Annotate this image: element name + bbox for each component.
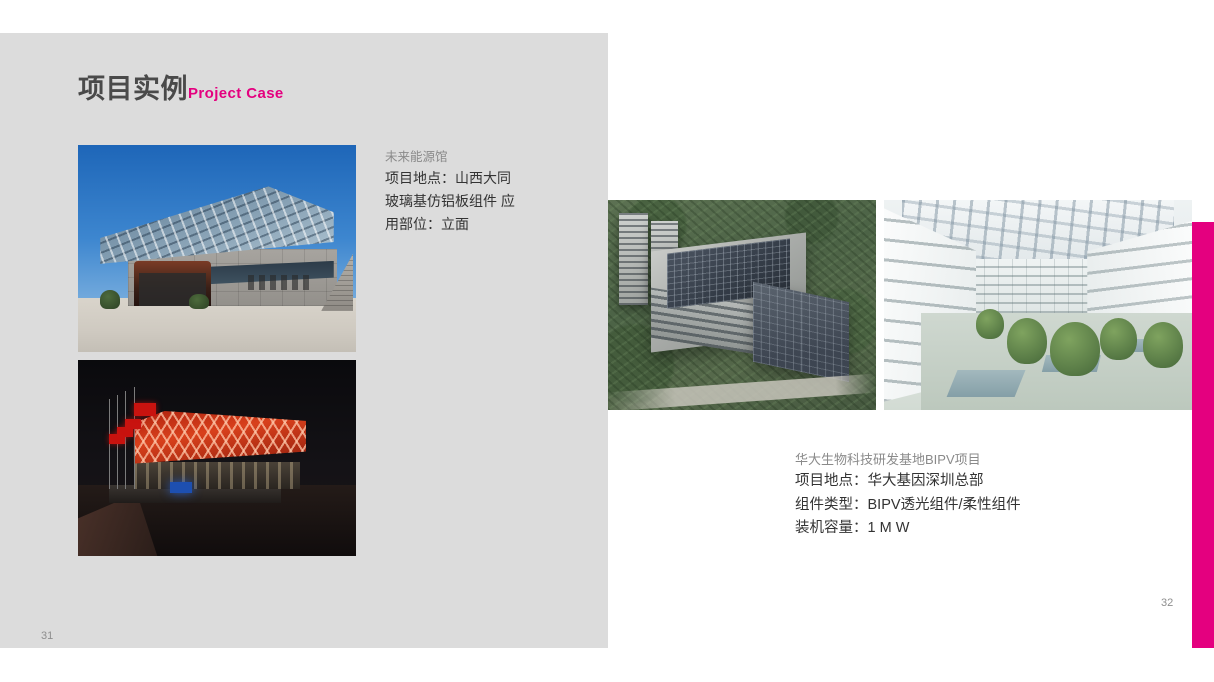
info-line-location: 项目地点：华大基因深圳总部	[795, 470, 1021, 493]
page-number-left: 31	[41, 630, 53, 642]
tree-icon	[1100, 318, 1137, 360]
info-line-capacity: 装机容量：1 M W	[795, 517, 1021, 540]
info-heading-right: 华大生物科技研发基地BIPV项目	[795, 449, 1021, 470]
flagpole	[125, 391, 126, 489]
info-line-location: 项目地点：山西大同	[385, 167, 515, 190]
flag-icon	[134, 403, 156, 416]
page-title-en: Project Case	[188, 85, 284, 102]
photo-bgi-atrium	[884, 200, 1192, 410]
photo-bgi-aerial	[608, 200, 876, 410]
residential-tower	[619, 213, 648, 305]
info-block-right: 华大生物科技研发基地BIPV项目 项目地点：华大基因深圳总部 组件类型：BIPV…	[795, 449, 1021, 541]
night-led-screen	[170, 482, 192, 494]
page-number-right: 32	[1161, 597, 1173, 609]
building-signage	[248, 275, 312, 289]
info-line-module-type: 组件类型：BIPV透光组件/柔性组件	[795, 494, 1021, 517]
photo-museum-daytime	[78, 145, 356, 352]
shrub-icon	[189, 294, 208, 308]
info-block-left: 未来能源馆 项目地点：山西大同 玻璃基仿铝板组件 应 用部位：立面	[385, 147, 515, 235]
tree-icon	[1007, 318, 1047, 364]
flag-icon	[125, 419, 141, 429]
photo-museum-night	[78, 360, 356, 556]
water-feature	[946, 370, 1025, 397]
tree-icon	[1050, 322, 1099, 377]
tree-icon	[976, 309, 1004, 338]
info-heading-left: 未来能源馆	[385, 147, 515, 167]
shrub-icon	[100, 290, 119, 309]
info-line-application: 用部位：立面	[385, 213, 515, 236]
night-building-podium	[134, 462, 301, 489]
page-title-cn: 项目实例	[78, 74, 188, 104]
accent-bar	[1192, 222, 1214, 648]
info-line-module-type: 玻璃基仿铝板组件 应	[385, 190, 515, 213]
page-title: 项目实例Project Case	[78, 76, 284, 103]
tree-icon	[1143, 322, 1183, 368]
